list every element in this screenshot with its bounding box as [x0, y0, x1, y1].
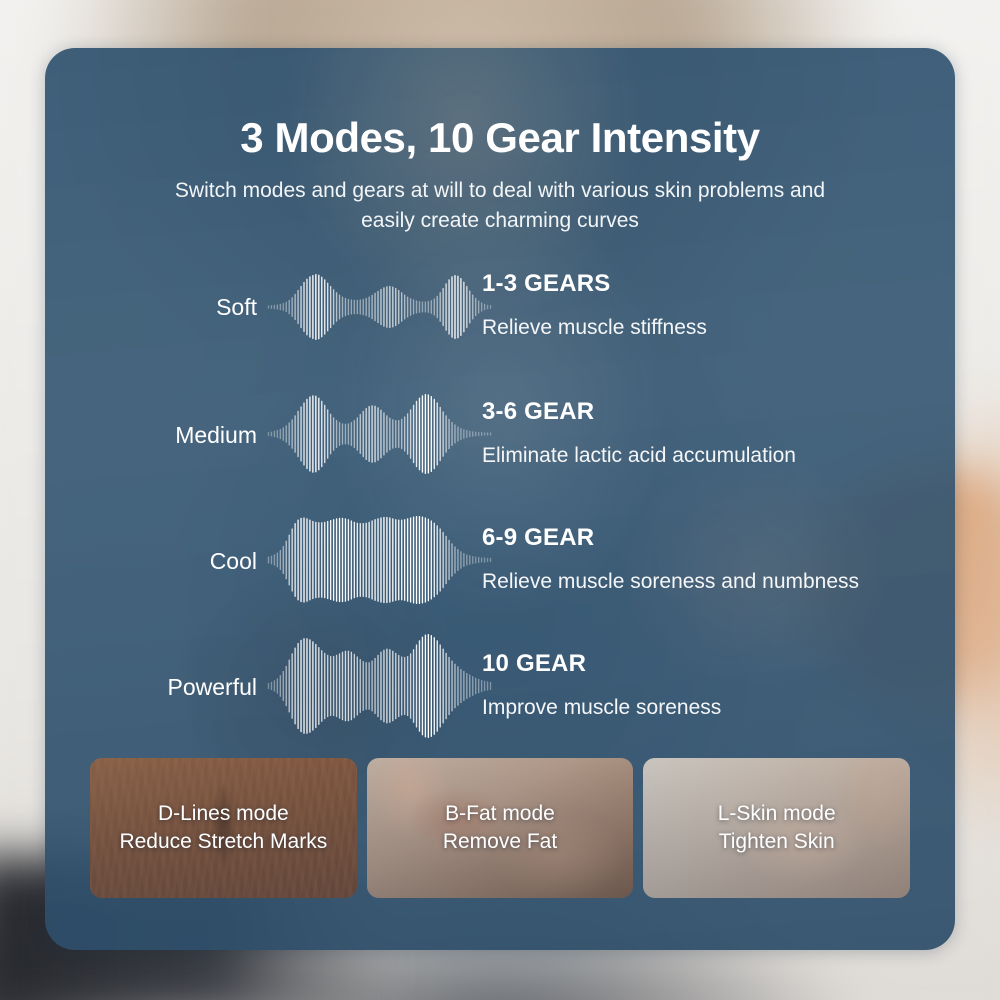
card-benefit-line: Remove Fat — [443, 828, 557, 856]
mode-card-l-skin[interactable]: L-Skin mode Tighten Skin — [643, 758, 910, 898]
powerful-waveform-icon — [267, 632, 492, 740]
card-mode-line: D-Lines mode — [119, 800, 327, 828]
mode-name-cool: Cool — [45, 548, 257, 575]
mode-card-b-fat[interactable]: B-Fat mode Remove Fat — [367, 758, 634, 898]
mode-description-powerful: Improve muscle soreness — [482, 696, 721, 720]
mode-description-cool: Relieve muscle soreness and numbness — [482, 570, 859, 594]
card-benefit-line: Reduce Stretch Marks — [119, 828, 327, 856]
mode-row-soft: Soft 1-3 GEARS Relieve muscle stiffness — [45, 272, 955, 398]
waveform-svg — [267, 514, 492, 606]
mode-card-list: D-Lines mode Reduce Stretch Marks B-Fat … — [90, 758, 910, 898]
mode-description-soft: Relieve muscle stiffness — [482, 316, 707, 340]
waveform-svg — [267, 392, 492, 476]
card-caption: L-Skin mode Tighten Skin — [718, 800, 836, 856]
mode-card-d-lines[interactable]: D-Lines mode Reduce Stretch Marks — [90, 758, 357, 898]
mode-name-medium: Medium — [45, 422, 257, 449]
mode-description-medium: Eliminate lactic acid accumulation — [482, 444, 796, 468]
waveform-svg — [267, 632, 492, 740]
content-panel: 3 Modes, 10 Gear Intensity Switch modes … — [45, 48, 955, 950]
cool-waveform-icon — [267, 514, 492, 606]
mode-row-medium: Medium 3-6 GEAR Eliminate lactic acid ac… — [45, 398, 955, 524]
card-mode-line: B-Fat mode — [443, 800, 557, 828]
mode-name-soft: Soft — [45, 294, 257, 321]
waveform-svg — [267, 272, 492, 342]
mode-list: Soft 1-3 GEARS Relieve muscle stiffness … — [45, 272, 955, 776]
card-mode-line: L-Skin mode — [718, 800, 836, 828]
gear-range-medium: 3-6 GEAR — [482, 398, 594, 426]
page-subtitle: Switch modes and gears at will to deal w… — [170, 176, 830, 236]
gear-range-powerful: 10 GEAR — [482, 650, 586, 678]
card-caption: D-Lines mode Reduce Stretch Marks — [119, 800, 327, 856]
card-benefit-line: Tighten Skin — [718, 828, 836, 856]
mode-row-cool: Cool 6-9 GEAR Relieve muscle soreness an… — [45, 524, 955, 650]
soft-waveform-icon — [267, 272, 492, 342]
gear-range-cool: 6-9 GEAR — [482, 524, 594, 552]
card-caption: B-Fat mode Remove Fat — [443, 800, 557, 856]
product-feature-graphic: 3 Modes, 10 Gear Intensity Switch modes … — [0, 0, 1000, 1000]
medium-waveform-icon — [267, 392, 492, 476]
gear-range-soft: 1-3 GEARS — [482, 270, 611, 298]
page-title: 3 Modes, 10 Gear Intensity — [45, 114, 955, 162]
mode-name-powerful: Powerful — [45, 674, 257, 701]
